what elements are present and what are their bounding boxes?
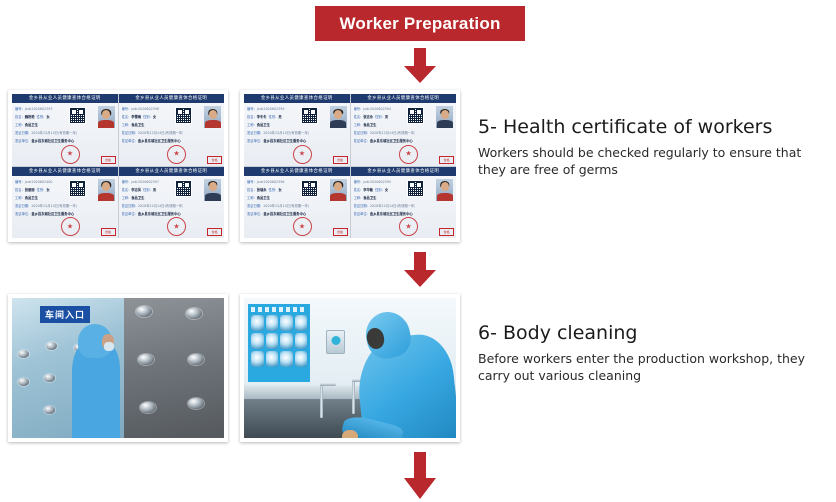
health-certificate-photo-1[interactable]: 金乡县从业人员健康查体合格证明 编号:jxdc2020602393 姓名:魏艳艳…: [8, 90, 228, 242]
cert-work-label: 工种:: [15, 194, 23, 202]
cert-id-value: jxdc2020602397: [131, 178, 159, 186]
certificate-header: 金乡县从业人员健康查体合格证明: [12, 94, 118, 103]
cert-work-label: 工种:: [247, 121, 255, 129]
cert-work-value: 食品卫生: [363, 121, 376, 129]
pass-mark-badge: 合格: [207, 228, 222, 236]
cert-name-label: 姓名:: [122, 186, 130, 194]
cert-sex-label: 性别:: [143, 113, 151, 121]
cert-sex-value: 女: [385, 186, 388, 194]
cert-sex-value: 女: [153, 113, 156, 121]
cert-unit-label: 发证单位:: [354, 210, 368, 218]
cert-id-label: 编号:: [15, 105, 23, 113]
cert-work-label: 工种:: [15, 121, 23, 129]
stamp-star-icon: ★: [173, 223, 179, 230]
cert-unit-label: 发证单位:: [354, 137, 368, 145]
cert-work-label: 工种:: [354, 121, 362, 129]
certificate-card: 金乡县从业人员健康查体合格证明 编号:jxdc2020602399 姓名:李冬冬…: [244, 94, 350, 166]
certificate-card: 金乡县从业人员健康查体合格证明 编号:jxdc2020602397 姓名:李志凤…: [119, 167, 225, 239]
cert-work-label: 工种:: [354, 194, 362, 202]
cert-work-value: 食品卫生: [131, 194, 144, 202]
cert-name-value: 张丽丽: [25, 186, 35, 194]
faucet-1: [320, 384, 323, 418]
certificate-header: 金乡县从业人员健康查体合格证明: [351, 167, 457, 176]
cert-id-label: 编号:: [15, 178, 23, 186]
certificate-header: 金乡县从业人员健康查体合格证明: [12, 167, 118, 176]
cert-date-label: 发证日期:: [247, 202, 261, 210]
cert-name-label: 姓名:: [354, 113, 362, 121]
certificate-card: 金乡县从业人员健康查体合格证明 编号:jxdc2020602396 姓名:张瑞永…: [244, 167, 350, 239]
certificate-header: 金乡县从业人员健康查体合格证明: [351, 94, 457, 103]
cert-work-value: 食品卫生: [257, 194, 270, 202]
cert-name-label: 姓名:: [122, 113, 130, 121]
section-title-banner: Worker Preparation: [315, 6, 525, 41]
official-stamp-icon: ★: [61, 145, 80, 164]
cert-date-label: 发证日期:: [354, 129, 368, 137]
certificate-header: 金乡县从业人员健康查体合格证明: [244, 167, 350, 176]
cert-unit-label: 发证单位:: [247, 210, 261, 218]
certificate-card: 金乡县从业人员健康查体合格证明 编号:jxdc2020602394 姓名:张志永…: [351, 94, 457, 166]
cert-unit-label: 发证单位:: [122, 137, 136, 145]
certificate-card: 金乡县从业人员健康查体合格证明 编号:jxdc2020602395 姓名:李华敏…: [351, 167, 457, 239]
cert-date-value: 2020年12月14日(有效期一年): [263, 129, 308, 137]
down-arrow-1: [403, 48, 437, 84]
step-5-description: Workers should be checked regularly to e…: [478, 145, 830, 179]
cert-date-label: 发证日期:: [122, 129, 136, 137]
qr-code-icon: [301, 180, 318, 197]
stamp-star-icon: ★: [173, 151, 179, 158]
cert-id-label: 编号:: [122, 105, 130, 113]
cert-name-label: 姓名:: [15, 186, 23, 194]
cert-sex-label: 性别:: [37, 113, 45, 121]
cert-work-label: 工种:: [122, 194, 130, 202]
official-stamp-icon: ★: [399, 217, 418, 236]
cert-sex-label: 性别:: [143, 186, 151, 194]
cert-name-value: 李冬冬: [257, 113, 267, 121]
qr-code-icon: [69, 180, 86, 197]
cert-sex-value: 女: [46, 113, 49, 121]
cert-date-value: 2020年12月14日(有效期一年): [31, 202, 76, 210]
cert-id-label: 编号:: [247, 105, 255, 113]
stamp-star-icon: ★: [67, 223, 73, 230]
cert-sex-value: 男: [278, 113, 281, 121]
cert-name-label: 姓名:: [15, 113, 23, 121]
cert-unit-value: 金乡县东城社区卫生服务中心: [263, 137, 306, 145]
worker-washing-hands: [342, 302, 456, 438]
pass-mark-badge: 合格: [333, 228, 348, 236]
cert-sex-label: 性别:: [37, 186, 45, 194]
worker-mask: [104, 342, 114, 351]
cert-unit-value: 金乡县东城社区卫生服务中心: [370, 137, 413, 145]
cert-id-value: jxdc2020602399: [257, 105, 285, 113]
portrait-photo: [98, 106, 115, 128]
air-shower-scene: 车间入口: [12, 298, 224, 438]
cert-sex-label: 性别:: [375, 186, 383, 194]
qr-code-icon: [175, 180, 192, 197]
cert-date-value: 2020年12月14日(有效期一年): [138, 202, 183, 210]
cert-name-label: 姓名:: [354, 186, 362, 194]
down-arrow-2: [403, 252, 437, 288]
official-stamp-icon: ★: [61, 217, 80, 236]
cert-unit-label: 发证单位:: [15, 210, 29, 218]
portrait-photo: [436, 106, 453, 128]
qr-code-icon: [407, 107, 424, 124]
pass-mark-badge: 合格: [439, 156, 454, 164]
cert-unit-label: 发证单位:: [247, 137, 261, 145]
cert-unit-value: 金乡县东城社区卫生服务中心: [138, 137, 181, 145]
cert-date-label: 发证日期:: [122, 202, 136, 210]
pass-mark-badge: 合格: [439, 228, 454, 236]
cert-work-value: 食品卫生: [257, 121, 270, 129]
cert-name-value: 张瑞永: [257, 186, 267, 194]
cert-sex-value: 男: [385, 113, 388, 121]
cert-id-label: 编号:: [247, 178, 255, 186]
cert-id-label: 编号:: [354, 105, 362, 113]
cert-id-label: 编号:: [354, 178, 362, 186]
cert-date-value: 2020年12月14日(有效期一年): [263, 202, 308, 210]
cert-sex-value: 女: [46, 186, 49, 194]
cert-date-label: 发证日期:: [354, 202, 368, 210]
cert-id-value: jxdc2020602396: [257, 178, 285, 186]
cert-work-value: 食品卫生: [25, 194, 38, 202]
qr-code-icon: [69, 107, 86, 124]
cert-name-value: 李华敏: [363, 186, 373, 194]
cert-sex-value: 男: [153, 186, 156, 194]
cert-date-label: 发证日期:: [15, 129, 29, 137]
official-stamp-icon: ★: [293, 217, 312, 236]
qr-code-icon: [301, 107, 318, 124]
cert-name-value: 魏艳艳: [25, 113, 35, 121]
section-title-label: Worker Preparation: [339, 14, 500, 34]
pass-mark-badge: 合格: [101, 156, 116, 164]
certificate-header: 金乡县从业人员健康查体合格证明: [119, 167, 225, 176]
cert-id-value: jxdc2020602400: [25, 178, 53, 186]
air-shower-glass-panel: 车间入口: [12, 298, 124, 438]
cert-name-value: 李志凤: [131, 186, 141, 194]
certificate-header: 金乡县从业人员健康查体合格证明: [119, 94, 225, 103]
step-5-text-block: 5- Health certificate of workers Workers…: [478, 116, 834, 179]
portrait-photo: [204, 179, 221, 201]
cert-work-value: 食品卫生: [131, 121, 144, 129]
step-5-title: 5- Health certificate of workers: [478, 116, 834, 138]
pass-mark-badge: 合格: [333, 156, 348, 164]
step-6-title: 6- Body cleaning: [478, 322, 834, 344]
certificate-card: 金乡县从业人员健康查体合格证明 编号:jxdc2020602393 姓名:魏艳艳…: [12, 94, 118, 166]
cert-sex-label: 性别:: [375, 113, 383, 121]
certificate-header: 金乡县从业人员健康查体合格证明: [244, 94, 350, 103]
stamp-star-icon: ★: [67, 151, 73, 158]
cert-sex-label: 性别:: [269, 113, 277, 121]
qr-code-icon: [175, 107, 192, 124]
handwash-instruction-poster: [248, 304, 310, 382]
pass-mark-badge: 合格: [207, 156, 222, 164]
official-stamp-icon: ★: [167, 217, 186, 236]
certificate-card: 金乡县从业人员健康查体合格证明 编号:jxdc2020602400 姓名:张丽丽…: [12, 167, 118, 239]
portrait-photo: [436, 179, 453, 201]
stamp-star-icon: ★: [405, 223, 411, 230]
cert-date-value: 2020年12月14日(有效期一年): [138, 129, 183, 137]
stamp-star-icon: ★: [405, 151, 411, 158]
cert-name-value: 张志永: [363, 113, 373, 121]
cert-id-value: jxdc2020602395: [363, 178, 391, 186]
certificate-card: 金乡县从业人员健康查体合格证明 编号:jxdc2020602398 姓名:李雪梅…: [119, 94, 225, 166]
portrait-photo: [330, 179, 347, 201]
qr-code-icon: [407, 180, 424, 197]
down-arrow-3: [403, 452, 437, 502]
cert-name-label: 姓名:: [247, 186, 255, 194]
certificate-sheet-2: 金乡县从业人员健康查体合格证明 编号:jxdc2020602399 姓名:李冬冬…: [244, 94, 456, 238]
health-certificate-photo-2[interactable]: 金乡县从业人员健康查体合格证明 编号:jxdc2020602399 姓名:李冬冬…: [240, 90, 460, 242]
portrait-photo: [330, 106, 347, 128]
cert-date-value: 2020年12月14日(有效期一年): [370, 129, 415, 137]
official-stamp-icon: ★: [167, 145, 186, 164]
cert-work-value: 食品卫生: [363, 194, 376, 202]
step-6-description: Before workers enter the production work…: [478, 351, 830, 385]
official-stamp-icon: ★: [293, 145, 312, 164]
cert-name-value: 李雪梅: [131, 113, 141, 121]
cert-date-label: 发证日期:: [15, 202, 29, 210]
hand-wash-scene: 洗手: [244, 298, 456, 438]
cert-sex-value: 女: [278, 186, 281, 194]
certificate-sheet-1: 金乡县从业人员健康查体合格证明 编号:jxdc2020602393 姓名:魏艳艳…: [12, 94, 224, 238]
workshop-entrance-sign: 车间入口: [40, 306, 90, 323]
cert-work-label: 工种:: [247, 194, 255, 202]
official-stamp-icon: ★: [399, 145, 418, 164]
hand-washing-photo[interactable]: 洗手: [240, 294, 460, 442]
cert-unit-label: 发证单位:: [122, 210, 136, 218]
stamp-star-icon: ★: [299, 151, 305, 158]
cert-sex-label: 性别:: [269, 186, 277, 194]
cert-id-value: jxdc2020602398: [131, 105, 159, 113]
worker-body: [72, 344, 120, 438]
air-shower-steel-panel: [124, 298, 224, 438]
pass-mark-badge: 合格: [101, 228, 116, 236]
portrait-photo: [204, 106, 221, 128]
cert-id-value: jxdc2020602393: [25, 105, 53, 113]
cert-work-label: 工种:: [122, 121, 130, 129]
cert-date-label: 发证日期:: [247, 129, 261, 137]
cert-work-value: 食品卫生: [25, 121, 38, 129]
cert-date-value: 2020年12月14日(有效期一年): [31, 129, 76, 137]
air-shower-photo[interactable]: 车间入口: [8, 294, 228, 442]
portrait-photo: [98, 179, 115, 201]
cert-unit-label: 发证单位:: [15, 137, 29, 145]
stamp-star-icon: ★: [299, 223, 305, 230]
cert-date-value: 2020年12月14日(有效期一年): [370, 202, 415, 210]
cert-name-label: 姓名:: [247, 113, 255, 121]
cert-id-value: jxdc2020602394: [363, 105, 391, 113]
cert-id-label: 编号:: [122, 178, 130, 186]
flowchart-stage: Worker Preparation 金乡县从业人员健康查体合格证明 编号:jx…: [0, 0, 836, 502]
cert-unit-value: 金乡县东城社区卫生服务中心: [31, 137, 74, 145]
step-6-text-block: 6- Body cleaning Before workers enter th…: [478, 322, 834, 385]
